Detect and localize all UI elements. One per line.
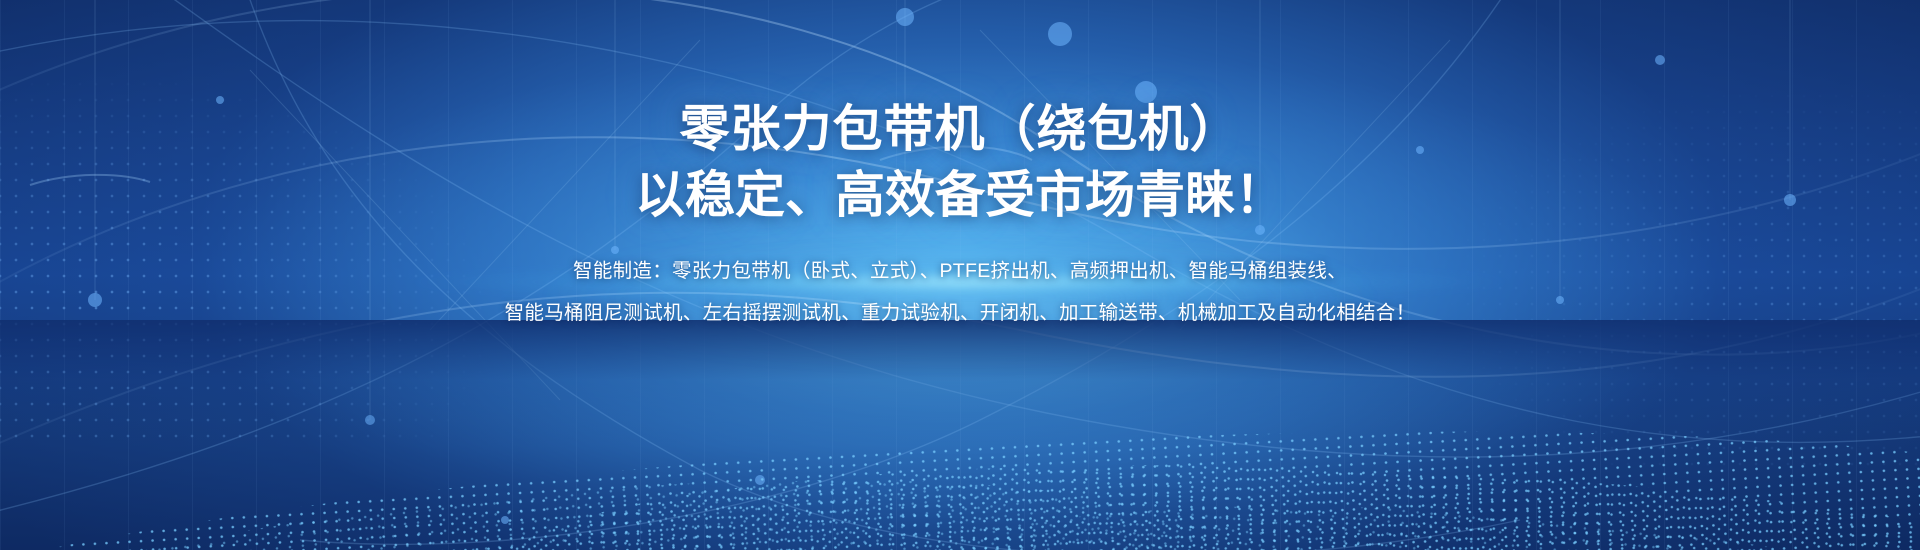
subtitle-line-2: 智能马桶阻尼测试机、左右摇摆测试机、重力试验机、开闭机、加工输送带、机械加工及自… bbox=[0, 292, 1920, 334]
headline-line-2: 以稳定、高效备受市场青睐！ bbox=[0, 162, 1920, 228]
banner-subtitle: 智能制造：零张力包带机（卧式、立式）、PTFE挤出机、高频押出机、智能马桶组装线… bbox=[0, 228, 1920, 334]
particle-wave-mesh bbox=[0, 320, 1920, 550]
hero-banner: 零张力包带机（绕包机） 以稳定、高效备受市场青睐！ 智能制造：零张力包带机（卧式… bbox=[0, 0, 1920, 550]
banner-content: 零张力包带机（绕包机） 以稳定、高效备受市场青睐！ 智能制造：零张力包带机（卧式… bbox=[0, 0, 1920, 334]
headline-line-1: 零张力包带机（绕包机） bbox=[0, 96, 1920, 162]
banner-headline: 零张力包带机（绕包机） 以稳定、高效备受市场青睐！ bbox=[0, 0, 1920, 228]
mesh-fade-overlay bbox=[0, 320, 1920, 550]
subtitle-line-1: 智能制造：零张力包带机（卧式、立式）、PTFE挤出机、高频押出机、智能马桶组装线… bbox=[0, 250, 1920, 292]
